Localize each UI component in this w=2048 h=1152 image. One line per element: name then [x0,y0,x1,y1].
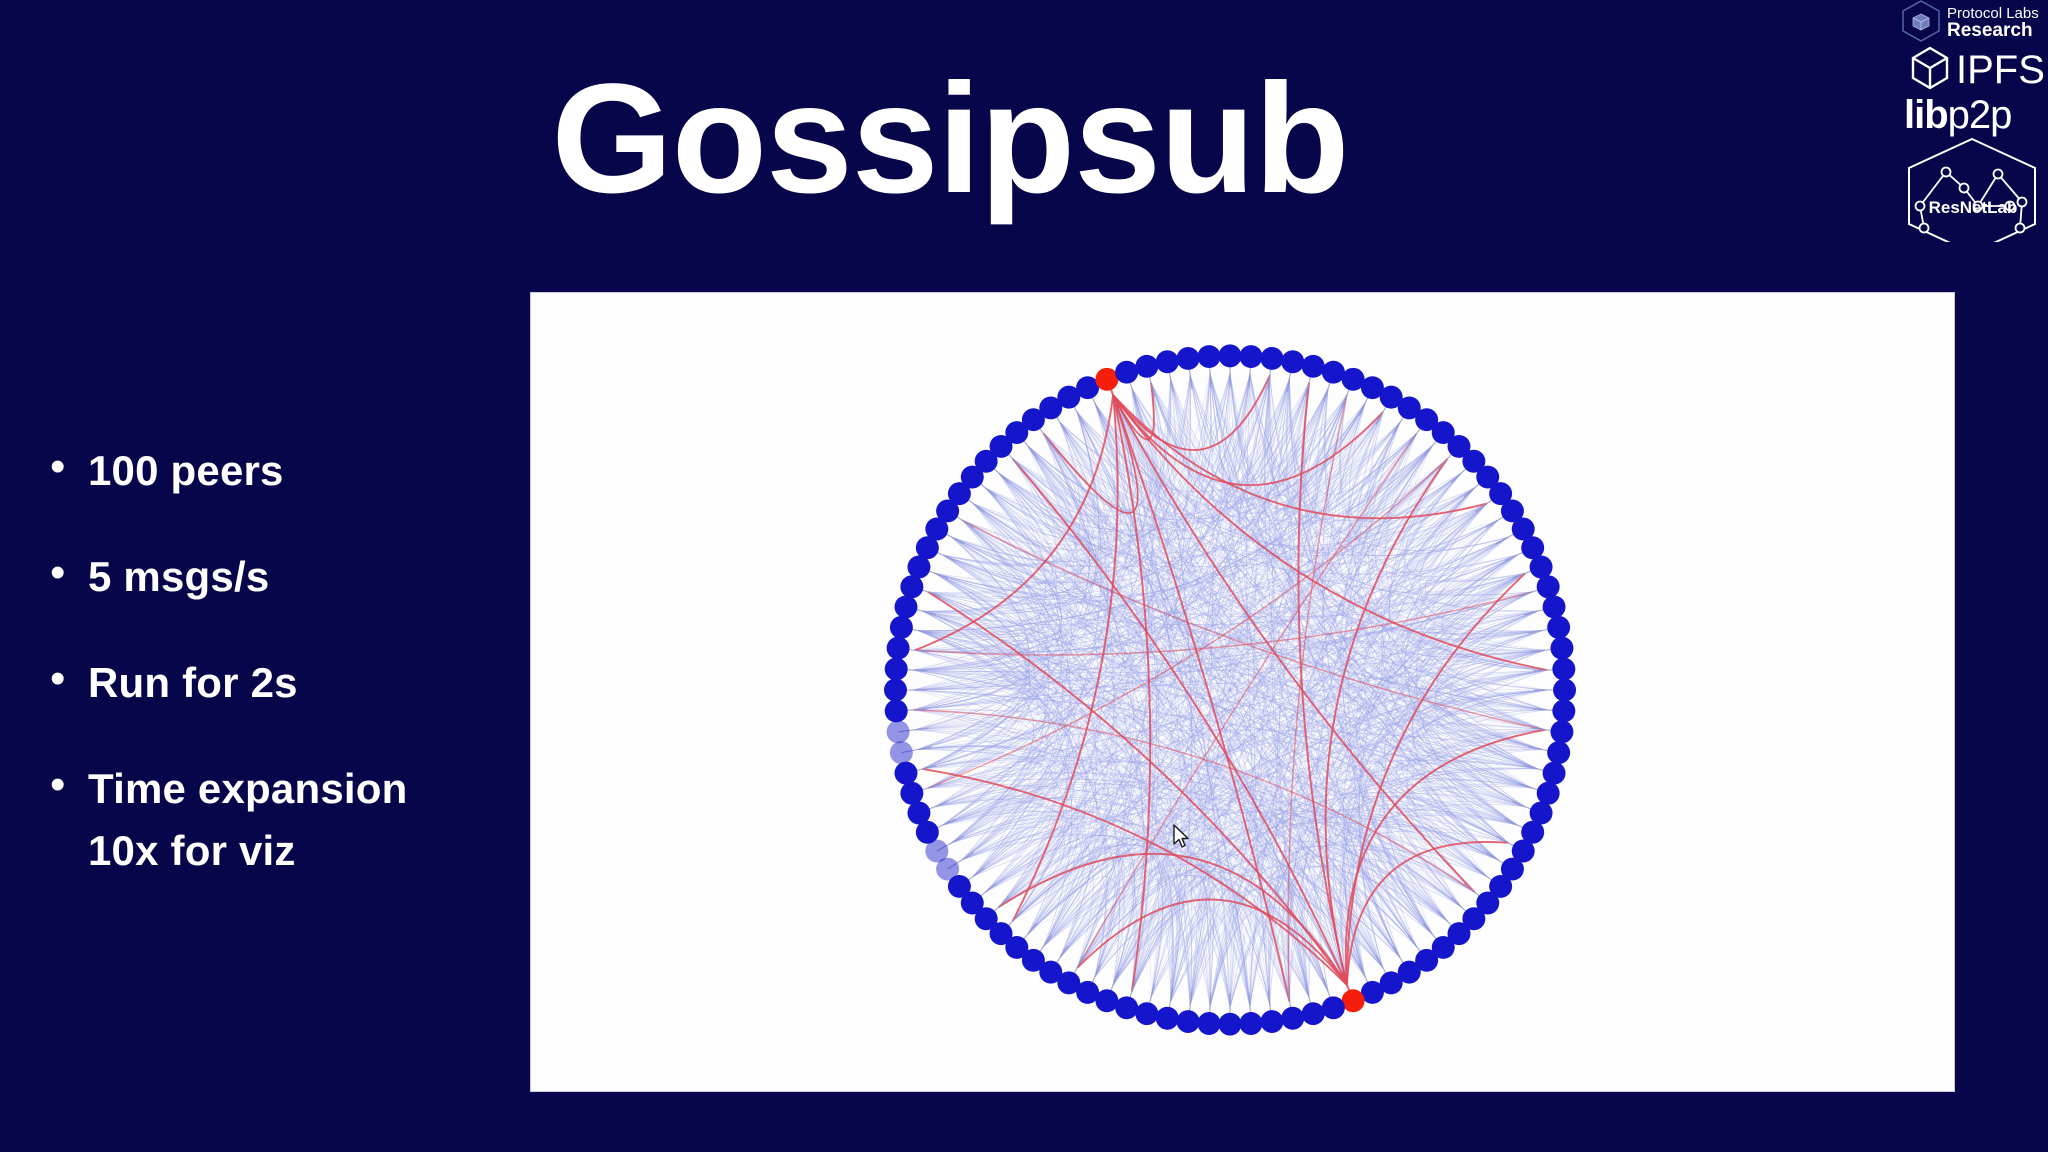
peer-node[interactable] [1543,762,1566,785]
list-item: • Time expansion 10x for viz [42,758,512,882]
peer-node[interactable] [885,658,908,681]
peer-node[interactable] [1135,1002,1158,1025]
resnetlab-hexagon-network-icon [1902,229,2042,246]
peer-node[interactable] [1198,1012,1221,1035]
peer-node[interactable] [1543,595,1566,618]
peer-node[interactable] [1550,637,1573,660]
bullet-marker-icon: • [42,546,88,600]
peer-node[interactable] [1135,355,1158,378]
peer-node[interactable] [1302,355,1325,378]
peer-node[interactable] [1547,616,1570,639]
peer-node[interactable] [1553,679,1576,702]
peer-node[interactable] [890,741,913,764]
publisher-node[interactable] [1095,368,1118,391]
peer-node[interactable] [1240,345,1263,368]
peer-node[interactable] [1552,699,1575,722]
peer-node[interactable] [894,595,917,618]
publisher-node[interactable] [1342,989,1365,1012]
peer-node[interactable] [1550,720,1573,743]
peer-node[interactable] [907,802,930,825]
peer-node[interactable] [1302,1002,1325,1025]
peer-node[interactable] [1537,575,1560,598]
peer-node[interactable] [1156,350,1179,373]
peer-node[interactable] [1177,347,1200,370]
libp2p-logo: libp2p [1898,94,2048,136]
libp2p-light-part: p2p [1948,93,2012,137]
peer-node[interactable] [1547,741,1570,764]
bullet-marker-icon: • [42,758,88,812]
list-item: • 5 msgs/s [42,546,512,608]
presentation-slide: Gossipsub • 100 peers • 5 msgs/s • Run f… [0,0,2048,1152]
ipfs-logo: IPFS [1898,46,2048,94]
peer-node[interactable] [1552,658,1575,681]
bullet-text: Run for 2s [88,652,298,714]
peer-node[interactable] [1240,1012,1263,1035]
peer-node[interactable] [890,616,913,639]
peer-node[interactable] [887,637,910,660]
peer-node[interactable] [1260,347,1283,370]
peer-node[interactable] [887,720,910,743]
peer-node[interactable] [1156,1007,1179,1030]
network-visualization-panel[interactable] [530,292,1955,1092]
bullet-text: 100 peers [88,440,284,502]
protocol-labs-wordmark: Protocol Labs Research [1947,6,2039,40]
bullet-marker-icon: • [42,440,88,494]
peer-node[interactable] [1281,1007,1304,1030]
peer-node[interactable] [1198,345,1221,368]
protocol-labs-hexagon-icon [1900,0,1942,48]
peer-node[interactable] [1281,350,1304,373]
protocol-labs-line2: Research [1947,21,2039,40]
bullet-marker-icon: • [42,652,88,706]
peer-node[interactable] [1530,556,1553,579]
peer-node[interactable] [900,782,923,805]
peer-node[interactable] [884,679,907,702]
peer-node[interactable] [1115,996,1138,1019]
protocol-labs-research-logo: Protocol Labs Research [1898,0,2048,46]
ipfs-cube-icon [1908,45,1952,96]
list-item: • Run for 2s [42,652,512,714]
libp2p-wordmark: libp2p [1904,95,2011,135]
peer-node[interactable] [1115,361,1138,384]
libp2p-bold-part: lib [1904,93,1948,137]
peer-node[interactable] [1537,782,1560,805]
list-item: • 100 peers [42,440,512,502]
peer-node[interactable] [1177,1010,1200,1033]
network-graph[interactable] [531,293,1954,1091]
logo-stack: Protocol Labs Research IPFS libp2p [1898,0,2048,242]
peer-node[interactable] [1322,996,1345,1019]
mesh-edges-layer [912,373,1547,1007]
peer-node[interactable] [894,762,917,785]
peer-node[interactable] [900,575,923,598]
peer-node[interactable] [1219,1013,1242,1036]
page-title: Gossipsub [0,58,1900,222]
peer-node[interactable] [1260,1010,1283,1033]
bullet-list: • 100 peers • 5 msgs/s • Run for 2s • Ti… [42,440,512,926]
resnetlab-logo: ResNetLab [1898,136,2048,242]
ipfs-wordmark: IPFS [1956,50,2045,90]
resnetlab-wordmark: ResNetLab [1898,198,2048,218]
peer-node[interactable] [1219,344,1242,367]
peer-node[interactable] [1322,361,1345,384]
protocol-labs-line1: Protocol Labs [1947,6,2039,21]
bullet-text: Time expansion 10x for viz [88,758,407,882]
peer-node[interactable] [885,699,908,722]
bullet-text: 5 msgs/s [88,546,269,608]
